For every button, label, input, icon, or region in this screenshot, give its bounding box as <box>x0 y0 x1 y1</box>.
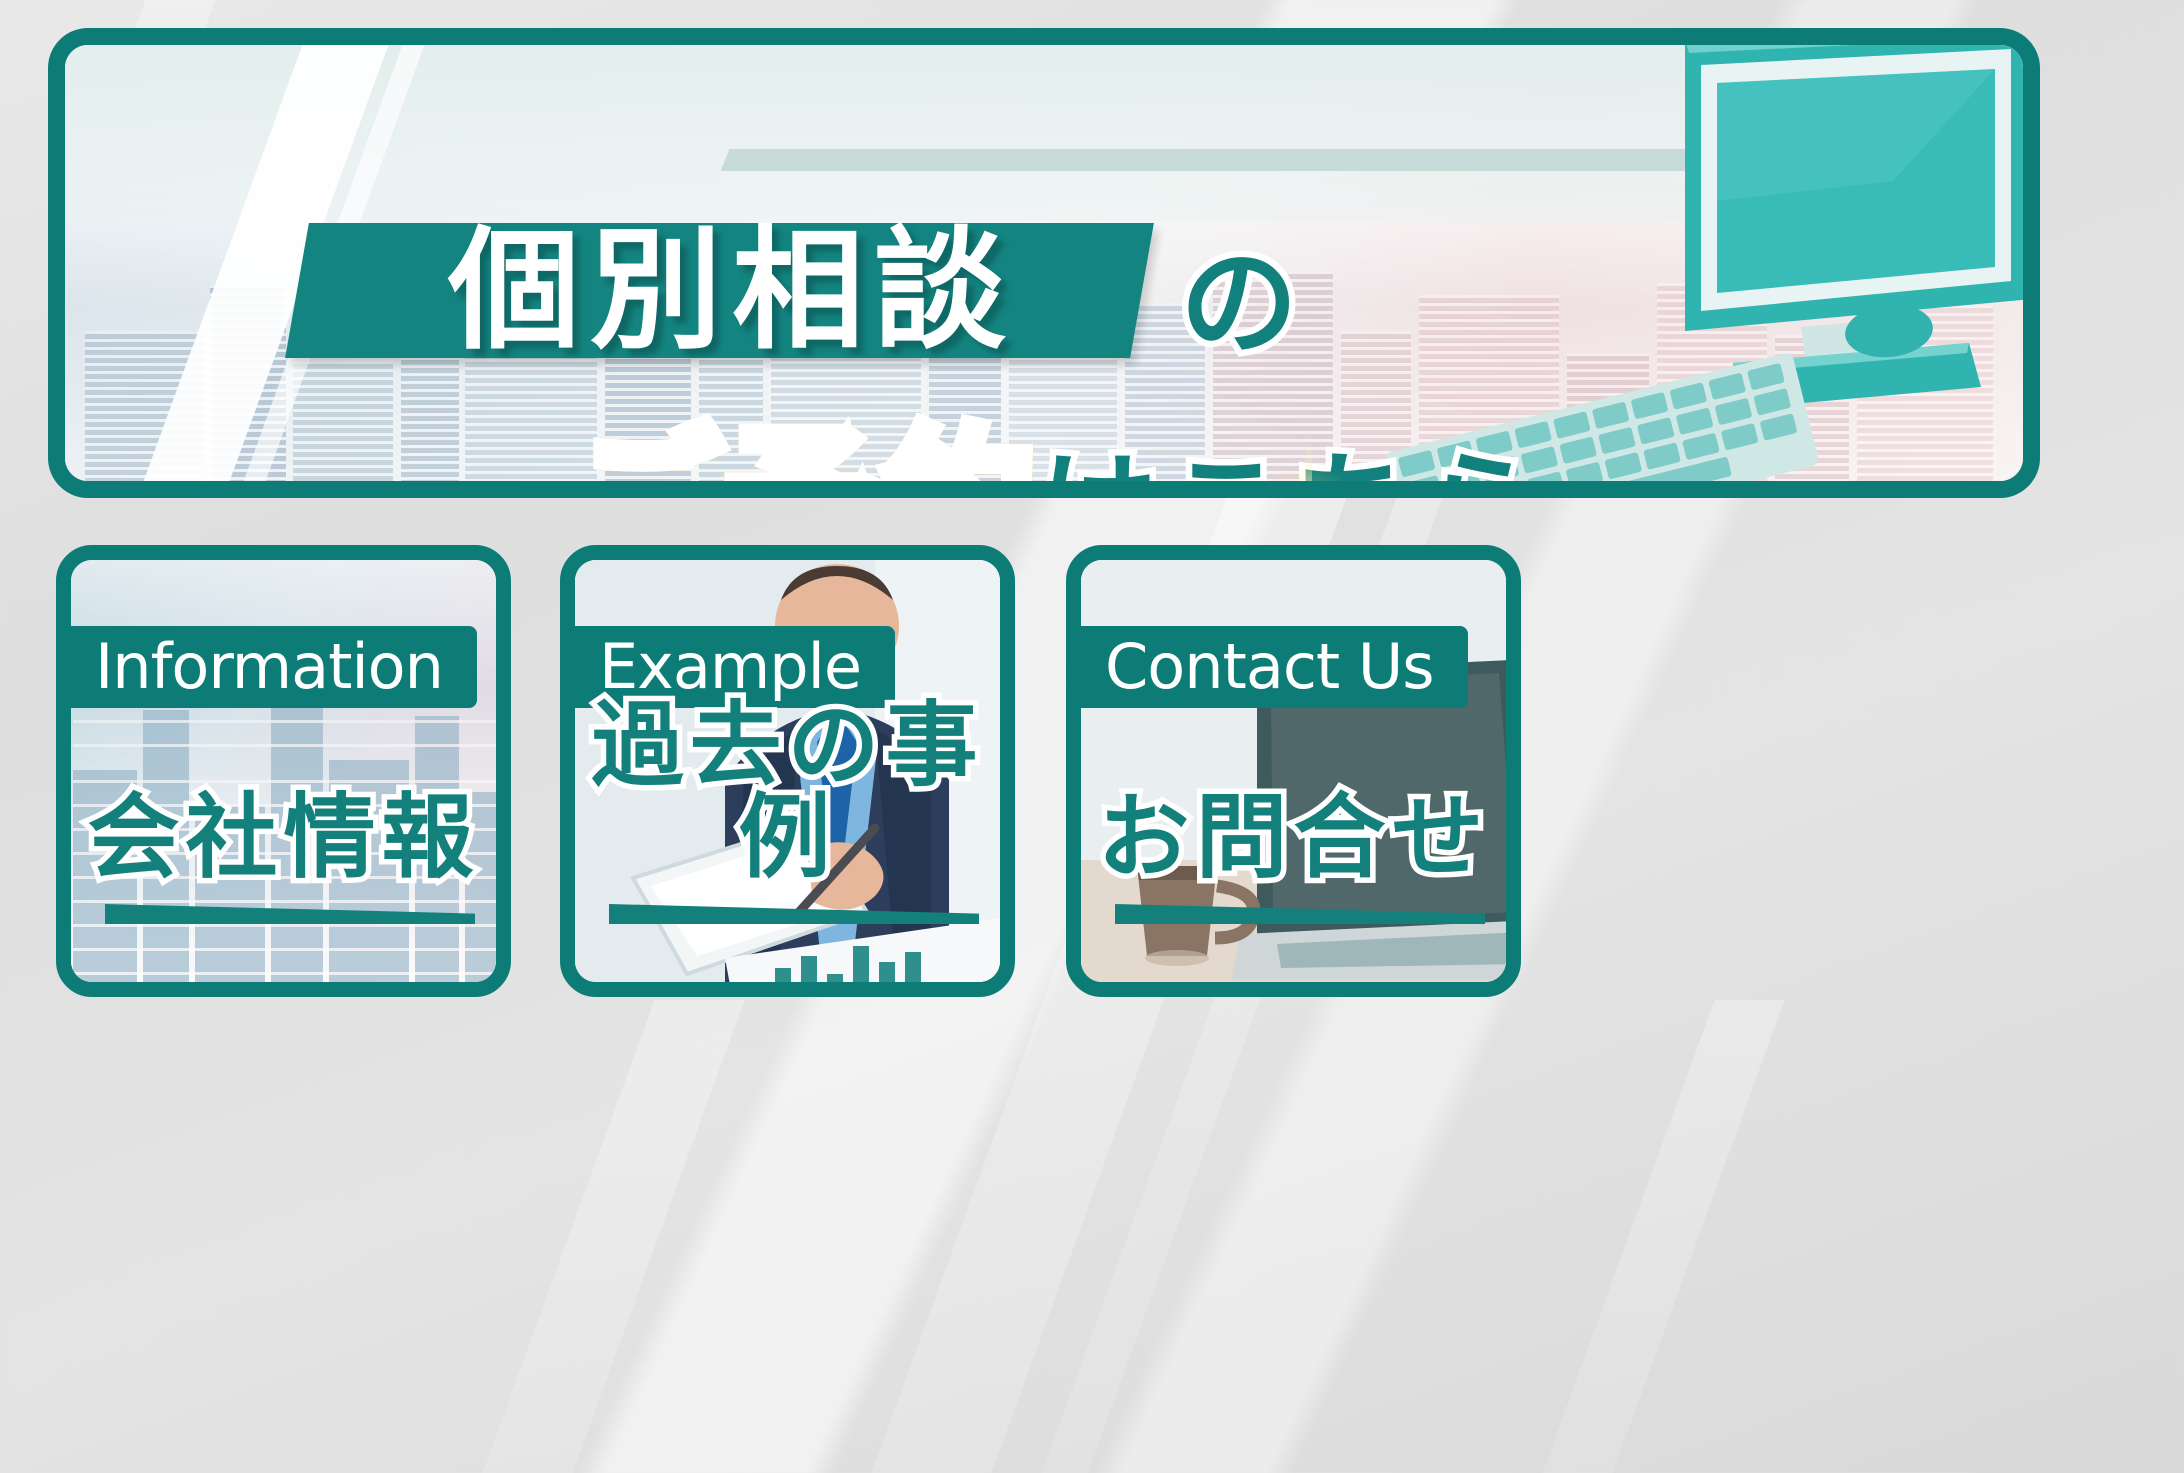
card-label-contact-us: Contact Us <box>1066 626 1468 708</box>
headline-gold: ご予約 <box>570 425 1038 498</box>
sparkle-icon <box>1233 453 1383 498</box>
card-company-information[interactable]: Information 会社情報 <box>56 545 511 997</box>
card-label-text: Example <box>599 636 861 698</box>
card-title-company-information: 会社情報 <box>71 792 496 884</box>
card-title-contact-us: お問合せ <box>1081 792 1506 884</box>
navigation-cards: Information 会社情報 <box>48 545 2140 1005</box>
card-label-information: Information <box>56 626 477 708</box>
card-contact-us[interactable]: Contact Us お問合せ <box>1066 545 1521 997</box>
hero-banner[interactable]: 個別相談 の ご予約 ご予約 はこちら <box>48 28 2040 498</box>
card-label-text: Information <box>95 636 443 698</box>
headline-primary: 個別相談 <box>317 221 1147 361</box>
headline-particle: の <box>1180 245 1298 363</box>
card-label-text: Contact Us <box>1105 636 1434 698</box>
headline-secondary-row: ご予約 はこちら <box>570 425 1550 498</box>
card-past-examples[interactable]: Example 過去の事例 <box>560 545 1015 997</box>
card-title-past-examples: 過去の事例 <box>575 700 1000 884</box>
background-streak-3 <box>465 1000 744 1473</box>
background-streak-4 <box>1525 1000 1784 1473</box>
